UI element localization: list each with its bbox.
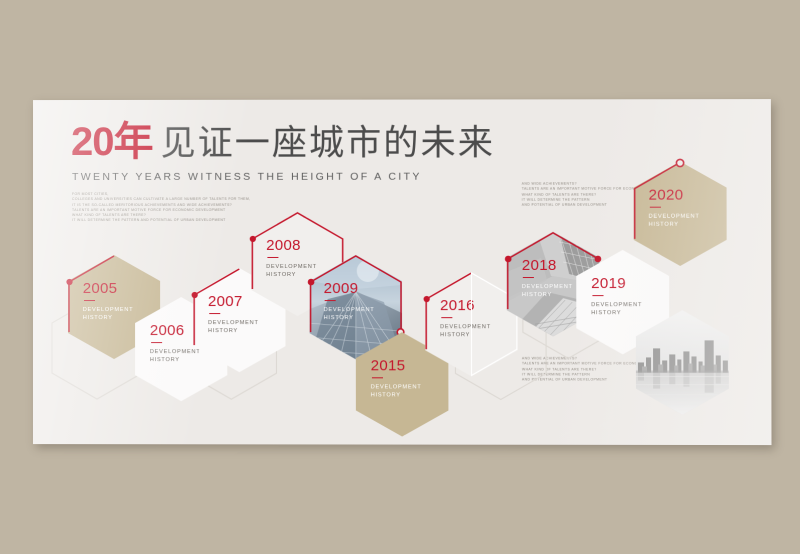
poster-scene: 20年见证一座城市的未来 TWENTY YEARS WITNESS THE HE… (0, 0, 800, 554)
paragraph-line: IT WILL DETERMINE THE PATTERN AND POTENT… (72, 218, 250, 223)
timeline-year: 2018 (522, 258, 573, 273)
timeline-year: 2020 (649, 188, 700, 203)
timeline-sub-line2: HISTORY (324, 314, 375, 322)
timeline-node-label: 2008 DEVELOPMENT HISTORY (266, 238, 317, 279)
timeline-sub-line1: DEVELOPMENT (591, 301, 642, 309)
accent-rule (325, 300, 336, 302)
timeline-sub-line1: DEVELOPMENT (266, 263, 317, 271)
headline-gray-part: 见证一座城市的未来 (161, 124, 495, 164)
subtitle: TWENTY YEARS WITNESS THE HEIGHT OF A CIT… (72, 171, 422, 183)
paragraph-line: COLLEGES AND UNIVERSITIES CAN CULTIVATE … (72, 197, 250, 202)
timeline-sub-line2: HISTORY (150, 356, 201, 364)
headline-red-part: 20年 (71, 120, 153, 164)
timeline-sub-line2: HISTORY (266, 271, 317, 279)
paragraph-left: FOR MOST CITIES, COLLEGES AND UNIVERSITI… (72, 192, 250, 224)
timeline-node-label: 2015 DEVELOPMENT HISTORY (371, 358, 422, 399)
accent-rule (592, 295, 603, 297)
timeline-sub-line1: DEVELOPMENT (208, 319, 259, 327)
page-title: 20年见证一座城市的未来 (71, 122, 495, 162)
timeline-year: 2019 (591, 276, 642, 291)
accent-rule (372, 377, 383, 379)
timeline-year: 2007 (208, 294, 259, 309)
accent-rule (84, 300, 95, 302)
timeline-year: 2015 (371, 358, 422, 373)
timeline-year: 2008 (266, 238, 317, 253)
timeline-sub-line2: HISTORY (371, 391, 422, 399)
timeline-sub-line2: HISTORY (649, 220, 700, 228)
timeline-node-2020[interactable]: 2020 DEVELOPMENT HISTORY (634, 161, 727, 266)
timeline-node-2016-outline (425, 272, 518, 376)
accent-rule (267, 256, 278, 258)
timeline-sub-line1: DEVELOPMENT (649, 212, 700, 220)
timeline-sub-line1: DEVELOPMENT (83, 306, 134, 314)
timeline-node-2009-label: 2009 DEVELOPMENT HISTORY (324, 281, 375, 322)
timeline-year: 2009 (324, 281, 375, 296)
timeline-wall-board: 20年见证一座城市的未来 TWENTY YEARS WITNESS THE HE… (33, 99, 772, 445)
timeline-node-label: 2007 DEVELOPMENT HISTORY (208, 294, 259, 335)
accent-rule (151, 342, 162, 344)
timeline-sub-line1: DEVELOPMENT (150, 348, 201, 356)
accent-rule (523, 277, 534, 279)
timeline-sub-line2: HISTORY (83, 314, 134, 322)
timeline-node-label: 2019 DEVELOPMENT HISTORY (591, 276, 642, 317)
timeline-node-2018-label: 2018 DEVELOPMENT HISTORY (522, 258, 573, 299)
timeline-sub-line1: DEVELOPMENT (324, 306, 375, 314)
timeline-sub-line2: HISTORY (522, 291, 573, 299)
timeline-year: 2006 (150, 323, 201, 338)
timeline-node-label: 2020 DEVELOPMENT HISTORY (649, 188, 700, 229)
timeline-sub-line2: HISTORY (208, 327, 259, 335)
accent-rule (650, 206, 661, 208)
timeline-sub-line1: DEVELOPMENT (371, 383, 422, 391)
accent-rule (209, 313, 220, 315)
timeline-sub-line2: HISTORY (591, 309, 642, 317)
timeline-node-label: 2006 DEVELOPMENT HISTORY (150, 323, 201, 364)
timeline-sub-line1: DEVELOPMENT (522, 283, 573, 291)
timeline-year: 2005 (83, 281, 134, 296)
timeline-node-label: 2005 DEVELOPMENT HISTORY (83, 281, 134, 322)
